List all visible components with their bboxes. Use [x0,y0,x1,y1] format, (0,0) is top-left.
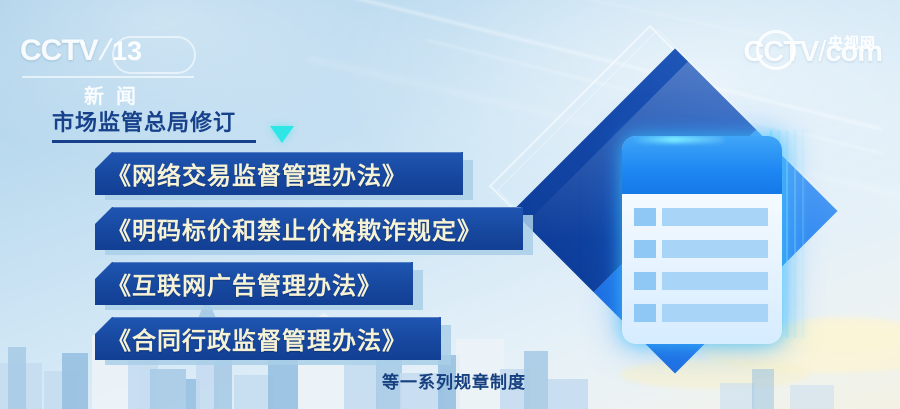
logo-underline [22,76,194,78]
regulation-bar: 《网络交易监督管理办法》 [95,152,463,195]
document-row-bullet [634,240,656,258]
headline-text: 市场监管总局修订 [52,105,256,137]
document-list-diamond-graphic [534,78,900,409]
regulation-label: 《网络交易监督管理办法》 [107,156,407,191]
bar-highlight [113,262,411,263]
logo-ring [756,30,796,70]
cctv-com-logo-icon: CCTV/com 央视网 [743,36,882,74]
headline-underline [52,140,256,143]
document-header-bar [622,136,782,194]
regulation-bar: 《明码标价和禁止价格欺诈规定》 [95,207,523,250]
list-item: 《网络交易监督管理办法》 [95,152,523,195]
document-row-line [662,272,768,290]
regulation-label: 《合同行政监督管理办法》 [107,321,407,356]
list-item: 《明码标价和禁止价格欺诈规定》 [95,207,523,250]
page-title: 市场监管总局修订 [52,105,256,143]
triangle-down-icon [270,126,294,143]
list-item: 《合同行政监督管理办法》 [95,317,523,360]
cctv13-logo-icon: CCTV / 13 新闻 [20,34,200,90]
document-glow-highlight [632,136,724,143]
cctv-com-chinese: 央视网 [828,32,876,53]
regulation-label: 《明码标价和禁止价格欺诈规定》 [107,211,482,246]
broadcast-frame: CCTV / 13 新闻 CCTV/com 央视网 市场监管总局修订 《网络交易… [0,0,900,409]
bar-highlight [113,152,461,153]
bar-highlight [113,317,439,318]
regulation-label: 《互联网广告管理办法》 [107,266,382,301]
bar-highlight [113,207,521,208]
footer-note: 等一系列规章制度 [382,368,526,393]
logo-pill-outline [112,36,196,74]
document-row-line [662,208,768,226]
document-row-line [662,304,768,322]
list-item: 《互联网广告管理办法》 [95,262,523,305]
document-row-line [662,240,768,258]
regulation-bar: 《合同行政监督管理办法》 [95,317,441,360]
regulation-list: 《网络交易监督管理办法》 《明码标价和禁止价格欺诈规定》 《互联网广告管理办法》… [95,152,523,372]
document-row-bullet [634,272,656,290]
document-row-bullet [634,208,656,226]
regulation-bar: 《互联网广告管理办法》 [95,262,413,305]
document-row-bullet [634,304,656,322]
document-card-icon [622,136,782,344]
cctv-wordmark: CCTV [20,34,98,68]
logo-dot [82,42,85,45]
